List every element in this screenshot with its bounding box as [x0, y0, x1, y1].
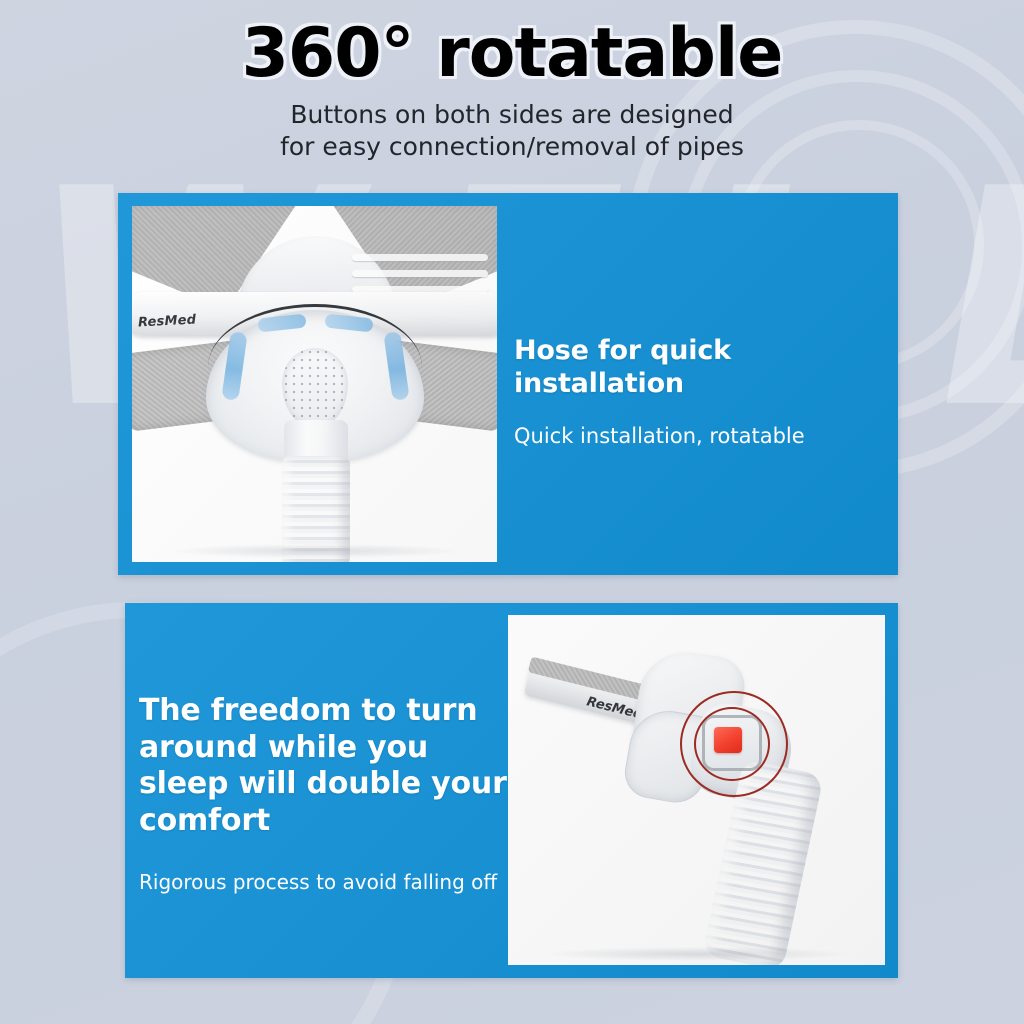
- highlight-ring-outer-icon: [680, 691, 788, 797]
- panel-subtitle: Rigorous process to avoid falling off: [139, 869, 519, 895]
- photo-shadow: [169, 544, 461, 558]
- panel-title: The freedom to turn around while you sle…: [139, 693, 519, 839]
- panel-subtitle: Quick installation, rotatable: [514, 423, 884, 450]
- photo-shadow: [546, 947, 848, 961]
- header: 360° rotatable Buttons on both sides are…: [0, 0, 1024, 163]
- brand-logo: ResMed: [138, 312, 197, 330]
- product-infographic: WELL 360° rotatable Buttons on both side…: [0, 0, 1024, 1024]
- product-photo-side-view: ResMed: [508, 615, 885, 965]
- panel-text-hose: Hose for quick installation Quick instal…: [514, 335, 884, 450]
- panel-title: Hose for quick installation: [514, 335, 884, 401]
- page-subtitle-line-1: Buttons on both sides are designed: [0, 99, 1024, 131]
- page-subtitle: Buttons on both sides are designed for e…: [0, 99, 1024, 163]
- nasal-mask-front-illustration: ResMed: [132, 206, 497, 562]
- feature-panel-freedom: The freedom to turn around while you sle…: [125, 603, 898, 978]
- page-subtitle-line-2: for easy connection/removal of pipes: [0, 131, 1024, 163]
- page-title: 360° rotatable: [0, 18, 1024, 89]
- nasal-mask-side-illustration: ResMed: [508, 615, 885, 965]
- panel-text-freedom: The freedom to turn around while you sle…: [139, 693, 519, 895]
- feature-panel-hose: ResMed Hose for quick installation Quick…: [118, 193, 898, 575]
- dome-rib: [352, 254, 488, 261]
- dome-rib: [352, 270, 488, 277]
- product-photo-front-view: ResMed: [132, 206, 497, 562]
